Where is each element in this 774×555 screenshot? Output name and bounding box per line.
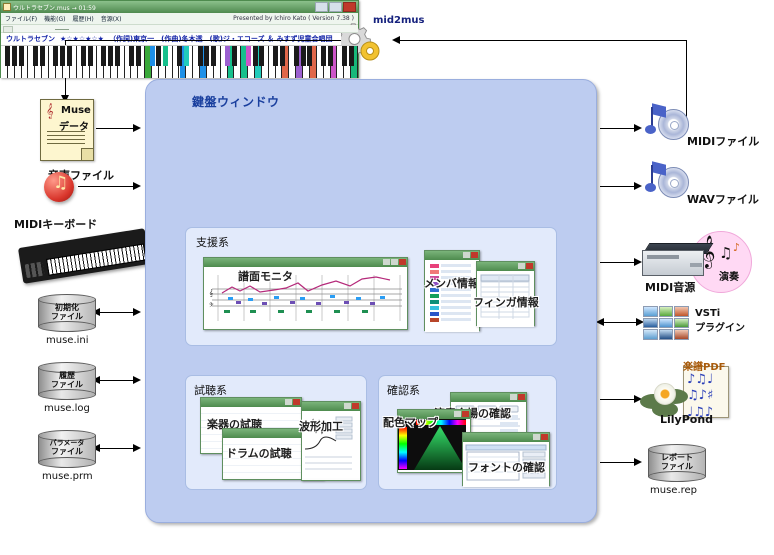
presented-by-text: Presented by Ichiro Kato ( Version 7.38 … xyxy=(233,15,354,22)
piano-black-key[interactable] xyxy=(211,46,216,66)
piano-black-key[interactable] xyxy=(273,46,278,66)
vsti-label: VSTi プラグイン xyxy=(695,308,745,334)
titlebar xyxy=(477,262,534,271)
arrowhead-log-r xyxy=(133,376,141,384)
report-line1: レポート xyxy=(661,453,693,462)
member-list xyxy=(425,260,479,332)
connector-to-midifile xyxy=(600,128,636,129)
titlebar xyxy=(451,393,526,402)
piano-black-key[interactable] xyxy=(253,46,258,66)
piano-black-key[interactable] xyxy=(53,46,58,66)
vsti-plugin-icon[interactable] xyxy=(643,306,689,340)
cylinder-bottom xyxy=(648,471,706,482)
piano-black-key[interactable] xyxy=(294,46,299,66)
piano-black-key[interactable] xyxy=(67,46,72,66)
arrowhead-wavfile xyxy=(634,182,642,190)
plugin-tile xyxy=(643,318,658,329)
window-font-check[interactable]: フォントの確認 xyxy=(462,432,550,486)
score-chart: 𝄞𝄢 xyxy=(204,267,407,327)
wav-file-icon[interactable] xyxy=(645,163,689,199)
app-icon xyxy=(3,3,11,11)
cylinder-label: 履歴 ファイル xyxy=(38,371,96,389)
window-controls[interactable] xyxy=(518,263,533,269)
piano-black-key[interactable] xyxy=(232,46,237,66)
caption-waveform-editing: 波形加工 xyxy=(299,418,343,434)
piano-black-key[interactable] xyxy=(342,46,347,66)
piano-black-key[interactable] xyxy=(81,46,86,66)
prm-line1: パラメータ xyxy=(50,439,85,447)
piano-black-key[interactable] xyxy=(12,46,17,66)
midi-keyboard-label: MIDIキーボード xyxy=(14,216,97,232)
arrowhead-audio xyxy=(133,182,141,190)
piano-black-key[interactable] xyxy=(60,46,65,66)
section-verification-title: 確認系 xyxy=(387,382,420,398)
connector-log xyxy=(96,380,134,381)
window-waveform-editing[interactable]: 波形加工 xyxy=(301,401,361,481)
document-lines xyxy=(47,131,85,147)
piano-black-key[interactable] xyxy=(19,46,24,66)
plugin-tile xyxy=(659,329,674,340)
menu-history[interactable]: 履歴(H) xyxy=(72,14,93,23)
piano-black-key[interactable] xyxy=(246,46,251,66)
muse-prm-filename: muse.prm xyxy=(42,471,93,482)
section-audition-title: 試聴系 xyxy=(194,382,227,398)
menu-sound-source[interactable]: 音源(X) xyxy=(101,14,122,23)
note-accent-icon: ♪ xyxy=(733,241,740,254)
performance-badge-label: 演奏 xyxy=(719,268,739,283)
titlebar xyxy=(302,402,360,411)
cylinder-bottom xyxy=(38,389,96,400)
plugin-tile xyxy=(659,318,674,329)
connector-prm xyxy=(96,448,134,449)
muse-data-icon[interactable]: 𝄞 Muse データ xyxy=(40,99,94,161)
keyboard-window[interactable]: ウルトラセブン.mus → 01:59 ファイル(F) 機能(G) 履歴(H) … xyxy=(0,0,359,78)
caption-score-monitor: 譜面モニタ xyxy=(238,268,293,284)
keyboard-section-title: 鍵盤ウィンドウ xyxy=(192,93,280,110)
connector-musedata-to-panel xyxy=(96,128,134,129)
window-controls[interactable] xyxy=(463,252,478,258)
song-credits: （作詞)東京一 (作曲)冬木透 (歌)ジ・エコーズ ＆ みすず児童合唱団 xyxy=(109,34,333,44)
window-controls[interactable] xyxy=(454,411,469,417)
arrowhead-midifile xyxy=(634,124,642,132)
ini-line2: ファイル xyxy=(51,312,83,321)
plugin-tile xyxy=(674,306,689,317)
score-monitor-canvas: 𝄞𝄢 xyxy=(204,267,407,327)
cylinder-label: 初期化 ファイル xyxy=(38,303,96,321)
connector-to-vsti xyxy=(600,322,638,323)
note-glyph xyxy=(645,163,667,195)
arrowhead-midisource xyxy=(634,258,642,266)
vsti-label-line1: VSTi xyxy=(695,308,745,319)
cylinder-label: パラメータ ファイル xyxy=(38,439,96,456)
music-glyph-icon: 𝄞 xyxy=(46,105,54,118)
window-score-monitor[interactable]: 𝄞𝄢 譜面モニタ xyxy=(203,257,408,330)
window-controls[interactable] xyxy=(533,434,548,440)
window-color-map[interactable]: 配色マップ xyxy=(397,409,471,473)
keyboard-window-title: ウルトラセブン.mus → 01:59 xyxy=(13,3,96,12)
member-color-list xyxy=(427,262,477,328)
keyboard-window-titlebar: ウルトラセブン.mus → 01:59 xyxy=(1,1,358,13)
arrowhead-ini-r xyxy=(133,308,141,316)
connector-to-midisource xyxy=(600,262,636,263)
window-controls[interactable] xyxy=(315,2,356,12)
arrowhead-vsti-l xyxy=(596,318,604,326)
piano-black-key[interactable] xyxy=(33,46,38,66)
module-slot xyxy=(647,255,679,259)
report-line2: ファイル xyxy=(661,462,693,471)
piano-black-key[interactable] xyxy=(115,46,120,66)
midi-file-icon[interactable] xyxy=(645,105,689,141)
piano-black-key[interactable] xyxy=(307,46,312,66)
caption-font-check: フォントの確認 xyxy=(468,459,545,475)
midi-keyboard-icon[interactable] xyxy=(18,228,150,284)
piano-keyboard[interactable] xyxy=(1,45,358,78)
arrowhead-musedata xyxy=(133,124,141,132)
toolbar-strip xyxy=(1,25,358,33)
titlebar xyxy=(463,433,549,442)
muse-rep-filename: muse.rep xyxy=(650,485,697,496)
lily-flower xyxy=(654,383,676,405)
piano-black-key[interactable] xyxy=(349,46,354,66)
song-title: ウルトラセブン xyxy=(6,34,55,44)
log-line2: ファイル xyxy=(51,380,83,389)
connector-midifile-to-gear-h xyxy=(398,40,686,41)
lilypond-label: LilyPond xyxy=(660,413,713,426)
muse-log-filename: muse.log xyxy=(44,403,90,414)
titlebar xyxy=(204,258,407,267)
caption-member-info: メンバ情報 xyxy=(424,275,479,291)
midi-source-icon[interactable] xyxy=(642,243,708,276)
connector-to-wavfile xyxy=(600,186,636,187)
piano-black-key[interactable] xyxy=(198,46,203,66)
piano-black-key[interactable] xyxy=(150,46,155,66)
song-stars: ★☆★☆★☆★ xyxy=(60,35,104,43)
connector-to-lilypond xyxy=(600,399,636,400)
plugin-tile xyxy=(659,306,674,317)
cylinder-bottom xyxy=(38,321,96,332)
config-file-prm[interactable]: パラメータ ファイル xyxy=(38,430,96,468)
piano-black-key[interactable] xyxy=(280,46,285,66)
piano-black-key[interactable] xyxy=(259,46,264,66)
piano-black-key[interactable] xyxy=(301,46,306,66)
menu-function[interactable]: 機能(G) xyxy=(44,14,65,23)
midi-source-label: MIDI音源 xyxy=(645,279,695,295)
score-pdf-label: 楽譜PDF xyxy=(683,358,725,373)
section-support-title: 支援系 xyxy=(196,234,229,250)
piano-black-key[interactable] xyxy=(101,46,106,66)
titlebar xyxy=(201,398,301,407)
piano-black-key[interactable] xyxy=(40,46,45,66)
arrowhead-report xyxy=(634,458,642,466)
vsti-label-line2: プラグイン xyxy=(695,319,745,334)
config-file-ini[interactable]: 初期化 ファイル xyxy=(38,294,96,332)
arrowhead-to-gear xyxy=(392,36,400,44)
module-indicator xyxy=(690,263,702,267)
connector-to-report xyxy=(600,462,636,463)
note-glyph-icon: ♫ xyxy=(53,175,68,192)
piano-black-key[interactable] xyxy=(204,46,209,66)
piano-black-key[interactable] xyxy=(328,46,333,66)
muse-data-label-line1: Muse xyxy=(61,105,91,116)
caption-drum-audition: ドラムの試聴 xyxy=(226,445,292,461)
audio-sphere-icon[interactable]: ♫ xyxy=(44,172,74,202)
titlebar xyxy=(425,251,479,260)
prm-line2: ファイル xyxy=(51,447,83,456)
piano-black-key[interactable] xyxy=(136,46,141,66)
window-finger-info[interactable]: フィンガ情報 xyxy=(476,261,535,326)
note-glyph xyxy=(645,105,667,137)
plugin-tile xyxy=(643,329,658,340)
window-controls[interactable] xyxy=(285,399,300,405)
plugin-tile xyxy=(643,306,658,317)
connector-gear-to-muse-h xyxy=(65,40,345,41)
lilypond-icon[interactable] xyxy=(640,378,696,418)
window-controls[interactable] xyxy=(510,394,525,400)
mid2mus-label: mid2mus xyxy=(373,15,424,26)
report-file-icon[interactable]: レポート ファイル xyxy=(648,444,706,482)
piano-black-key[interactable] xyxy=(5,46,10,66)
page-fold xyxy=(81,148,93,160)
cylinder-label: レポート ファイル xyxy=(648,453,706,471)
cylinder-bottom xyxy=(38,457,96,468)
maximize-button[interactable] xyxy=(329,2,342,12)
piano-black-key[interactable] xyxy=(156,46,161,66)
plugin-tile xyxy=(674,318,689,329)
ini-line1: 初期化 xyxy=(55,303,79,312)
caption-color-map: 配色マップ xyxy=(383,414,438,430)
piano-black-key[interactable] xyxy=(108,46,113,66)
piano-black-key[interactable] xyxy=(129,46,134,66)
notes-icon: ♫ xyxy=(719,244,732,262)
minimize-button[interactable] xyxy=(315,2,328,12)
piano-black-key[interactable] xyxy=(321,46,326,66)
song-info-bar: ウルトラセブン ★☆★☆★☆★ （作詞)東京一 (作曲)冬木透 (歌)ジ・エコー… xyxy=(1,33,358,45)
wav-file-label: WAVファイル xyxy=(687,191,759,207)
piano-black-key[interactable] xyxy=(177,46,182,66)
window-controls[interactable] xyxy=(383,259,406,265)
menu-file[interactable]: ファイル(F) xyxy=(5,14,37,23)
keyboard-window-menubar[interactable]: ファイル(F) 機能(G) 履歴(H) 音源(X) Presented by I… xyxy=(1,13,358,25)
piano-black-key[interactable] xyxy=(163,46,168,66)
window-member-info[interactable]: メンバ情報 xyxy=(424,250,480,331)
arrowhead-prm-r xyxy=(133,444,141,452)
window-controls[interactable] xyxy=(344,403,359,409)
svg-text:𝄞: 𝄞 xyxy=(209,288,213,298)
config-file-log[interactable]: 履歴 ファイル xyxy=(38,362,96,400)
log-line1: 履歴 xyxy=(59,371,75,380)
keyboard-knobs xyxy=(25,262,45,279)
svg-text:𝄢: 𝄢 xyxy=(209,302,214,310)
connector-ini xyxy=(96,312,134,313)
connector-audio-to-panel xyxy=(78,186,134,187)
piano-black-key[interactable] xyxy=(225,46,230,66)
close-button[interactable] xyxy=(343,2,356,12)
muse-ini-filename: muse.ini xyxy=(46,335,89,346)
piano-black-key[interactable] xyxy=(184,46,189,66)
piano-black-key[interactable] xyxy=(88,46,93,66)
caption-finger-info: フィンガ情報 xyxy=(473,294,539,310)
midi-file-label: MIDIファイル xyxy=(687,133,759,149)
plugin-tile xyxy=(674,329,689,340)
